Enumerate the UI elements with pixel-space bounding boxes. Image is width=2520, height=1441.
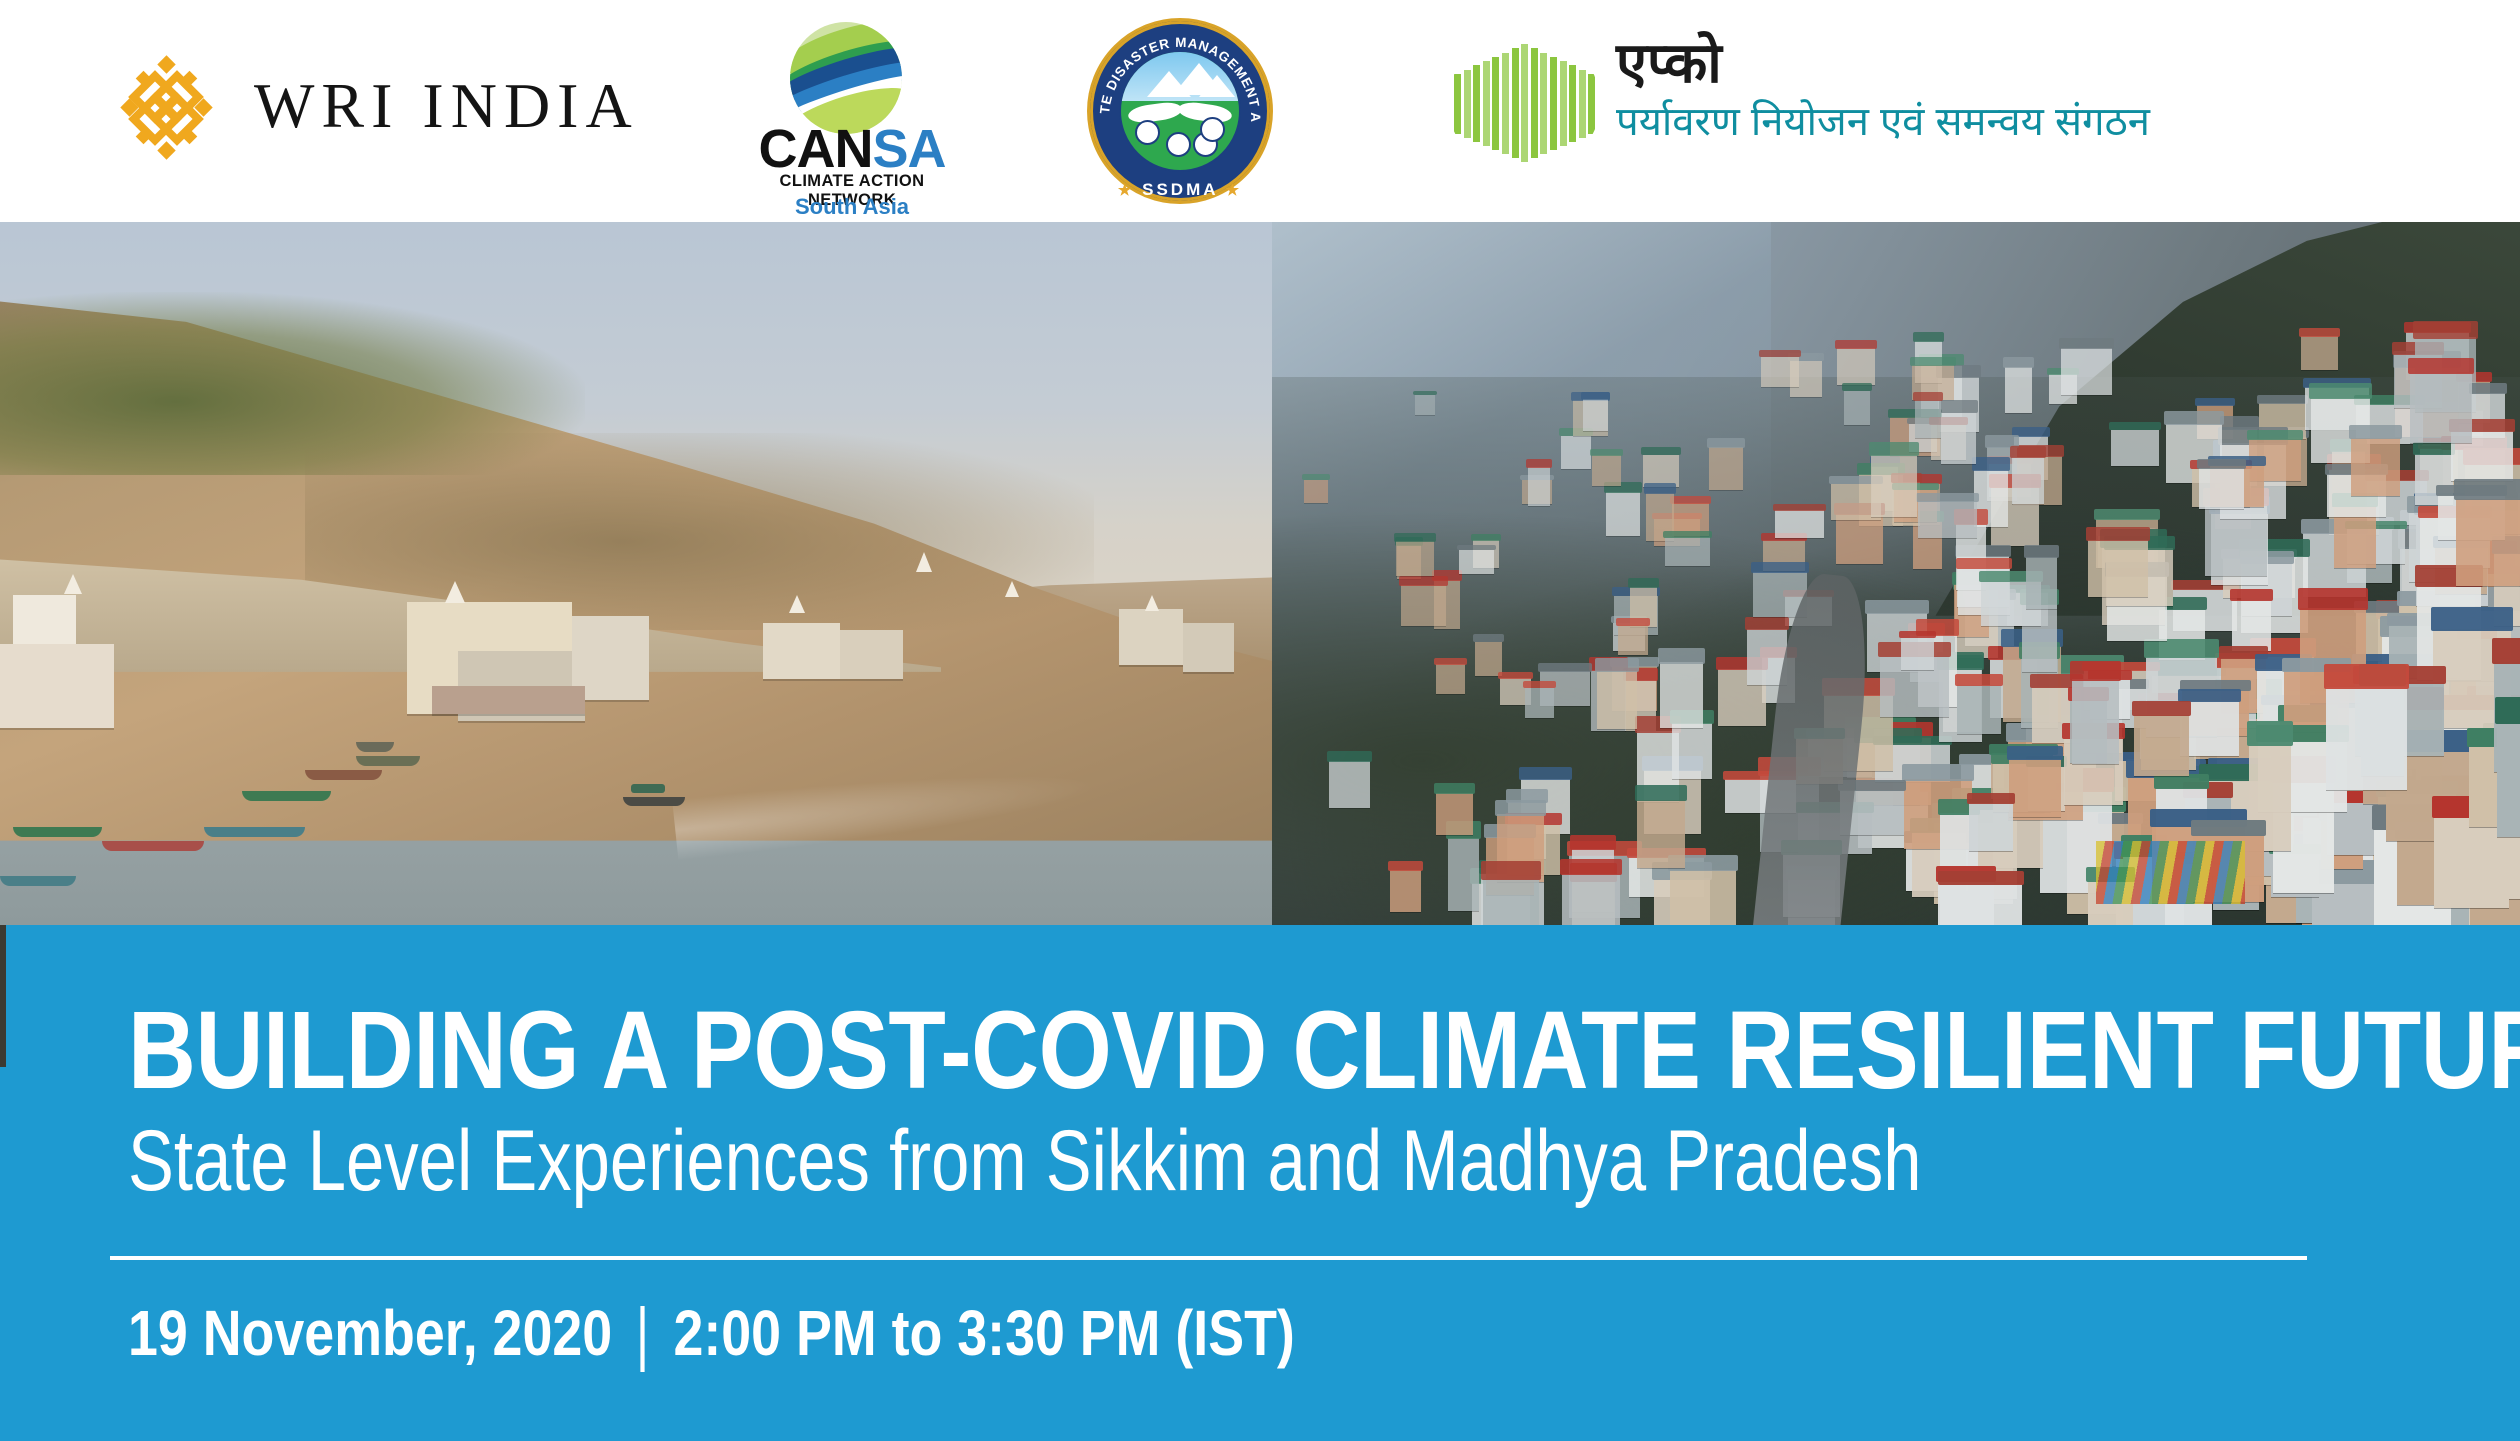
star-icon: ★ bbox=[1118, 182, 1134, 199]
cansa-wordmark-accent: SA bbox=[872, 119, 945, 179]
photo-right-roof bbox=[1899, 631, 1936, 639]
photo-right-building bbox=[2351, 438, 2400, 496]
photo-right-roof bbox=[2247, 430, 2302, 440]
photo-right-roof bbox=[2010, 446, 2046, 457]
logo-cansa: CANSA CLIMATE ACTION NETWORK South Asia bbox=[752, 22, 952, 200]
photo-right-roof bbox=[1902, 764, 1973, 781]
photo-right-building bbox=[1637, 800, 1685, 868]
photo-right-roof bbox=[2003, 357, 2033, 368]
photo-right-roof bbox=[1663, 531, 1712, 538]
photo-right-roof bbox=[1938, 871, 2023, 886]
photo-right-roof bbox=[1773, 504, 1827, 511]
photo-right-building bbox=[2088, 540, 2148, 597]
photo-right-roof bbox=[2094, 509, 2160, 521]
photo-right-roof bbox=[1658, 648, 1705, 664]
photo-left-boat bbox=[356, 742, 394, 752]
photo-left-boat bbox=[102, 841, 204, 851]
photo-right-building bbox=[1643, 455, 1679, 487]
photo-right-roof bbox=[2298, 588, 2368, 611]
photo-right-roof bbox=[2178, 689, 2241, 702]
photo-right-roof bbox=[1394, 533, 1437, 541]
photo-right-building bbox=[1837, 348, 1874, 385]
photo-right-roof bbox=[1956, 558, 2012, 569]
photo-right-roof bbox=[1869, 442, 1919, 457]
photo-right-roof bbox=[1835, 340, 1876, 349]
photo-right-roof bbox=[1751, 562, 1809, 573]
photo-right-building bbox=[1969, 803, 2013, 850]
photo-right-roof bbox=[2431, 607, 2513, 631]
photo-right-roof bbox=[1538, 663, 1591, 671]
photo-band bbox=[0, 222, 2520, 925]
photo-right-roof bbox=[1616, 618, 1650, 625]
photo-right-roof bbox=[2086, 527, 2150, 541]
cansa-globe-icon bbox=[790, 22, 902, 134]
photo-right-building bbox=[1918, 501, 1977, 538]
photo-right-roof bbox=[2195, 398, 2235, 406]
photo-right-roof bbox=[2257, 395, 2309, 404]
ssdma-abbreviation-wrap: ★ SSDMA ★ bbox=[1087, 180, 1273, 200]
photo-right-building bbox=[2410, 373, 2472, 443]
photo-right-roof bbox=[1745, 617, 1789, 630]
photo-right-roof bbox=[2413, 321, 2477, 339]
photo-left-motorboat bbox=[623, 784, 685, 806]
photo-right-building bbox=[1901, 638, 1934, 671]
photo-left-boat bbox=[305, 770, 381, 780]
photo-right-building bbox=[1483, 879, 1539, 925]
photo-left-boat bbox=[13, 827, 102, 837]
photo-right-building bbox=[1618, 625, 1648, 655]
photo-right-building bbox=[1597, 671, 1637, 730]
banner-canvas: WRI INDIA CANSA CLIMATE ACTION NETWORK S… bbox=[0, 0, 2520, 1441]
photo-right-roof bbox=[1471, 534, 1501, 541]
photo-right-roof bbox=[1916, 493, 1979, 502]
photo-right-building bbox=[1401, 585, 1446, 626]
star-icon: ★ bbox=[1226, 182, 1242, 199]
photo-right-roof bbox=[2109, 422, 2161, 431]
photo-right-roof bbox=[1388, 861, 1423, 871]
photo-right-roof bbox=[2059, 338, 2114, 349]
photo-right-building bbox=[1304, 480, 1329, 503]
photo-right-roof bbox=[2132, 701, 2191, 716]
photo-right-building bbox=[2301, 336, 2338, 370]
photo-right-roof bbox=[1628, 578, 1659, 588]
photo-right-roof bbox=[1759, 350, 1801, 357]
photo-right-roof bbox=[2070, 661, 2121, 681]
photo-left-boat bbox=[0, 876, 76, 886]
photo-right-roof bbox=[2454, 479, 2520, 500]
epco-title-hindi: एप्को bbox=[1616, 34, 1722, 93]
ssdma-flood-badge-icon bbox=[1200, 117, 1225, 142]
photo-right-roof bbox=[1913, 332, 1945, 342]
photo-right-roof bbox=[1519, 767, 1573, 780]
photo-left-boat bbox=[204, 827, 306, 837]
photo-right-roof bbox=[1865, 600, 1928, 614]
photo-right-building bbox=[1390, 870, 1421, 912]
photo-right-building bbox=[1436, 793, 1473, 836]
photo-right-roof bbox=[1581, 392, 1610, 400]
photo-right-building bbox=[1775, 510, 1825, 538]
photo-left-building bbox=[1183, 623, 1234, 672]
photo-madhya-pradesh-ghat bbox=[0, 222, 1272, 925]
banner-date: 19 November, 2020 bbox=[128, 1301, 612, 1365]
photo-right-building bbox=[2232, 600, 2271, 651]
photo-right-building bbox=[2199, 468, 2244, 509]
photo-right-roof bbox=[2495, 697, 2520, 725]
photo-right-building bbox=[2111, 430, 2159, 467]
photo-right-roof bbox=[2007, 746, 2063, 760]
photo-right-roof bbox=[1434, 783, 1475, 793]
photo-right-roof bbox=[1635, 785, 1687, 801]
photo-right-roof bbox=[1707, 438, 1745, 448]
photo-right-roof bbox=[2230, 589, 2273, 601]
photo-right-building bbox=[1761, 357, 1799, 387]
photo-right-building bbox=[2072, 679, 2119, 764]
photo-right-building bbox=[1415, 395, 1435, 415]
photo-left-temple-spire bbox=[445, 581, 465, 603]
photo-right-building bbox=[1448, 838, 1479, 911]
photo-right-roof bbox=[1913, 392, 1943, 401]
photo-right-building bbox=[1940, 884, 2021, 925]
photo-right-roof bbox=[1939, 400, 1978, 413]
photo-right-building bbox=[1660, 662, 1703, 728]
photo-right-roof bbox=[2144, 639, 2219, 658]
banner-datetime: 19 November, 2020 2:00 PM to 3:30 PM (IS… bbox=[128, 1300, 1295, 1366]
photo-right-building bbox=[1836, 514, 1883, 564]
photo-right-building bbox=[1583, 399, 1608, 431]
photo-right-roof bbox=[1560, 859, 1622, 875]
photo-right-roof bbox=[1590, 449, 1622, 456]
banner-title: BUILDING A POST-COVID CLIMATE RESILIENT … bbox=[128, 996, 2095, 1106]
ssdma-fire-badge-icon bbox=[1135, 120, 1160, 145]
cansa-wordmark: CANSA bbox=[752, 122, 952, 176]
photo-right-building bbox=[1957, 685, 2001, 734]
photo-right-roof bbox=[1327, 751, 1372, 762]
photo-right-roof bbox=[1967, 793, 2015, 804]
photo-right-roof bbox=[1523, 681, 1556, 688]
photo-right-building bbox=[1475, 642, 1503, 676]
photo-right-building bbox=[1871, 455, 1917, 517]
photo-right-building bbox=[1562, 874, 1620, 925]
photo-right-building bbox=[1844, 391, 1870, 426]
photo-right-roof bbox=[1644, 483, 1676, 494]
ssdma-abbreviation: SSDMA bbox=[1142, 180, 1218, 199]
photo-right-roof bbox=[1526, 459, 1552, 468]
photo-right-roof bbox=[2191, 820, 2266, 836]
photo-right-roof bbox=[1457, 545, 1496, 551]
photo-right-roof bbox=[1641, 447, 1681, 455]
photo-right-roof bbox=[1481, 861, 1541, 880]
photo-right-building bbox=[2061, 348, 2112, 394]
ssdma-mountain-icon bbox=[1199, 75, 1235, 97]
photo-sikkim-gangtok bbox=[1272, 222, 2520, 925]
photo-left-temple-spire bbox=[789, 595, 805, 613]
photo-right-building bbox=[1915, 400, 1941, 438]
photo-right-building bbox=[1941, 412, 1976, 465]
photo-right-building bbox=[1665, 537, 1710, 566]
photo-right-roof bbox=[1955, 674, 2003, 686]
photo-right-building bbox=[2134, 715, 2189, 776]
logo-ssdma: SIKKIM STATE DISASTER MANAGEMENT AUTHORI… bbox=[1087, 18, 1273, 204]
photo-right-roof bbox=[2492, 638, 2520, 664]
photo-right-building bbox=[2456, 499, 2520, 586]
photo-right-roof bbox=[1972, 457, 2010, 471]
photo-left-building bbox=[840, 630, 904, 679]
photo-left-building bbox=[763, 623, 839, 679]
photo-right-building bbox=[2497, 722, 2520, 837]
banner-subtitle: State Level Experiences from Sikkim and … bbox=[128, 1118, 1968, 1204]
photo-right-roof bbox=[1842, 383, 1872, 391]
photo-right-roof bbox=[1595, 658, 1639, 672]
photo-right-roof bbox=[2197, 459, 2246, 469]
photo-right-building bbox=[1329, 761, 1370, 808]
cansa-region: South Asia bbox=[752, 194, 952, 220]
photo-right-building bbox=[1592, 455, 1620, 485]
photo-right-roof bbox=[2024, 545, 2059, 558]
photo-right-building bbox=[2012, 457, 2044, 504]
banner-time: 2:00 PM to 3:30 PM (IST) bbox=[673, 1301, 1294, 1365]
photo-right-roof bbox=[1302, 474, 1331, 480]
epco-subtitle-hindi: पर्यावरण नियोजन एवं समन्वय संगठन bbox=[1616, 100, 2150, 144]
ssdma-emblem bbox=[1119, 50, 1242, 173]
photo-right-building bbox=[1670, 870, 1735, 925]
banner-divider bbox=[110, 1256, 2307, 1260]
photo-right-building bbox=[2026, 557, 2057, 610]
photo-right-roof bbox=[2247, 721, 2294, 747]
photo-right-building bbox=[1672, 723, 1712, 779]
photo-right-roof bbox=[2309, 383, 2372, 399]
photo-right-building bbox=[2326, 687, 2406, 790]
photo-left-building bbox=[1119, 609, 1183, 665]
photo-right-building bbox=[1528, 467, 1550, 506]
photo-left-temple-spire bbox=[64, 574, 82, 594]
ssdma-landslide-badge-icon bbox=[1166, 132, 1191, 157]
photo-right-roof bbox=[1570, 835, 1616, 850]
photo-left-temple-spire bbox=[1145, 595, 1159, 611]
photo-right-roof bbox=[1495, 800, 1546, 816]
photo-right-building bbox=[2005, 367, 2031, 413]
logo-wri-india: WRI INDIA bbox=[118, 52, 588, 162]
photo-right-roof bbox=[2469, 383, 2507, 394]
photo-right-roof bbox=[1413, 391, 1437, 396]
logo-epco: एप्को पर्यावरण नियोजन एवं समन्वय संगठन bbox=[1448, 28, 2128, 178]
photo-right-roof bbox=[2164, 411, 2225, 425]
photo-left-temple-spire bbox=[916, 552, 932, 572]
photo-right-roof bbox=[1399, 576, 1448, 586]
photo-right-townscape bbox=[1272, 222, 2520, 925]
photo-left-building bbox=[0, 644, 114, 728]
photo-right-building bbox=[1709, 447, 1743, 490]
photo-right-roof bbox=[2408, 358, 2474, 375]
wri-india-wordmark: WRI INDIA bbox=[254, 74, 639, 138]
photo-right-building bbox=[1606, 492, 1639, 536]
photo-left-boat bbox=[356, 756, 420, 766]
epco-mark-icon bbox=[1448, 30, 1600, 176]
photo-right-building bbox=[2009, 759, 2061, 817]
left-edge-notch bbox=[0, 925, 6, 1067]
photo-right-roof bbox=[2349, 425, 2402, 439]
photo-right-building bbox=[1396, 541, 1435, 576]
wri-knot-icon bbox=[118, 52, 214, 162]
photo-right-roof bbox=[1910, 357, 1956, 365]
photo-right-roof bbox=[2413, 442, 2455, 454]
logo-strip: WRI INDIA CANSA CLIMATE ACTION NETWORK S… bbox=[0, 0, 2520, 222]
photo-left-temple-spire bbox=[1005, 581, 1019, 597]
photo-left-signboard bbox=[432, 686, 585, 714]
photo-right-roof bbox=[1498, 672, 1533, 678]
photo-right-building bbox=[1436, 664, 1466, 694]
photo-right-building bbox=[1459, 550, 1494, 575]
photo-right-building bbox=[1525, 688, 1554, 719]
datetime-separator bbox=[641, 1306, 645, 1372]
photo-right-roof bbox=[2324, 664, 2408, 689]
photo-right-prayer-flags bbox=[2096, 841, 2246, 904]
photo-right-roof bbox=[2299, 328, 2340, 336]
photo-right-roof bbox=[1473, 634, 1505, 642]
photo-right-roof bbox=[1434, 658, 1468, 665]
photo-left-boat bbox=[242, 791, 331, 801]
photo-right-roof bbox=[1670, 496, 1711, 504]
photo-right-building bbox=[1561, 436, 1590, 469]
cansa-wordmark-dark: CAN bbox=[758, 119, 872, 179]
